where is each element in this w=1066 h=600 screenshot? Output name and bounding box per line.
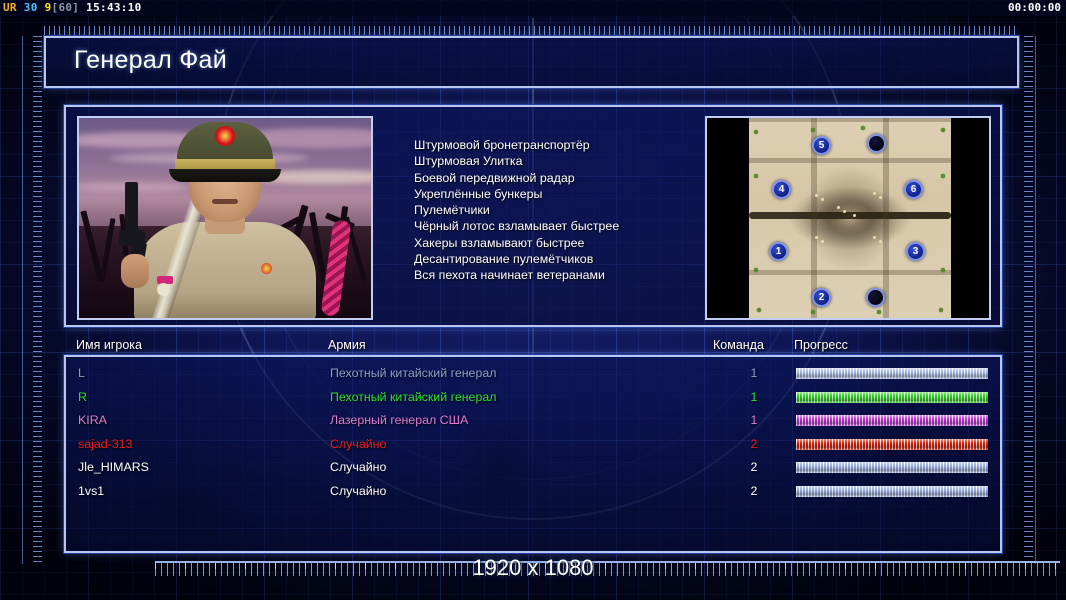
status-bar-left: UR 30 9[60] 15:43:10 (3, 0, 142, 16)
table-row[interactable]: 1vs1Случайно2 (66, 482, 1000, 506)
minimap-river (749, 212, 951, 219)
player-list-panel: LПехотный китайский генерал1RПехотный ки… (64, 355, 1002, 553)
resolution-label: 1920 x 1080 (0, 555, 1066, 581)
table-row[interactable]: LПехотный китайский генерал1 (66, 364, 1000, 388)
ruler-right (1024, 36, 1033, 564)
player-name: L (78, 366, 85, 380)
player-army: Случайно (330, 484, 386, 498)
player-army: Пехотный китайский генерал (330, 366, 496, 380)
player-progress-bar (796, 439, 988, 450)
table-row[interactable]: RПехотный китайский генерал1 (66, 388, 1000, 412)
ability-item: Укреплённые бункеры (414, 186, 704, 202)
match-timer: 00:00:00 (1008, 0, 1061, 16)
ability-item: Чёрный лотос взламывает быстрее (414, 218, 704, 234)
general-portrait (77, 116, 373, 320)
player-progress-bar (796, 462, 988, 473)
table-row[interactable]: KIRAЛазерный генерал США1 (66, 411, 1000, 435)
portrait-cap-badge (215, 126, 235, 146)
ruler-left (33, 36, 42, 564)
player-table-header: Имя игрока Армия Команда Прогресс (76, 338, 1006, 356)
player-progress-bar (796, 392, 988, 403)
ability-item: Штурмовая Улитка (414, 153, 704, 169)
minimap-spawn-marker[interactable]: 4 (772, 180, 791, 199)
page-title: Генерал Фай (74, 46, 227, 75)
player-team: 1 (746, 390, 762, 404)
table-row[interactable]: Jle_HIMARSСлучайно2 (66, 458, 1000, 482)
player-name: sajad-313 (78, 437, 132, 451)
minimap-spawn-marker[interactable]: 3 (906, 242, 925, 261)
player-army: Случайно (330, 460, 386, 474)
clock-value: 15:43:10 (86, 1, 141, 14)
minimap-spawn-marker[interactable] (866, 288, 885, 307)
progress-gloss (796, 486, 988, 497)
player-name: R (78, 390, 87, 404)
ability-item: Штурмовой бронетранспортёр (414, 137, 704, 153)
general-abilities-list: Штурмовой бронетранспортёр Штурмовая Ули… (414, 137, 704, 284)
minimap-spawn-marker[interactable]: 1 (769, 242, 788, 261)
player-name: KIRA (78, 413, 107, 427)
player-team: 2 (746, 484, 762, 498)
ping-max-value: [60] (52, 1, 80, 14)
player-team: 1 (746, 366, 762, 380)
minimap[interactable]: 546132 (705, 116, 991, 320)
player-army: Лазерный генерал США (330, 413, 468, 427)
header-progress: Прогресс (794, 338, 848, 352)
player-progress-bar (796, 368, 988, 379)
title-panel: Генерал Фай (44, 36, 1019, 88)
ability-item: Десантирование пулемётчиков (414, 251, 704, 267)
header-team: Команда (713, 338, 764, 352)
ping-value: 9 (45, 1, 52, 14)
ability-item: Хакеры взламывают быстрее (414, 235, 704, 251)
ability-item: Пулемётчики (414, 202, 704, 218)
player-name: Jle_HIMARS (78, 460, 149, 474)
frame-line-left (22, 36, 23, 564)
ruler-top (44, 26, 1019, 35)
minimap-spawn-marker[interactable] (867, 134, 886, 153)
header-player-name: Имя игрока (76, 338, 142, 352)
progress-gloss (796, 439, 988, 450)
progress-gloss (796, 368, 988, 379)
minimap-spawn-marker[interactable]: 2 (812, 288, 831, 307)
ability-item: Вся пехота начинает ветеранами (414, 267, 704, 283)
status-bar: UR 30 9[60] 15:43:10 00:00:00 (0, 0, 1066, 16)
frame-line-right (1035, 36, 1036, 564)
header-army: Армия (328, 338, 366, 352)
ability-item: Боевой передвижной радар (414, 170, 704, 186)
player-team: 2 (746, 437, 762, 451)
player-progress-bar (796, 486, 988, 497)
progress-gloss (796, 392, 988, 403)
player-progress-bar (796, 415, 988, 426)
minimap-terrain: 546132 (749, 118, 951, 318)
player-army: Случайно (330, 437, 386, 451)
fps-value: 30 (24, 1, 38, 14)
player-team: 2 (746, 460, 762, 474)
progress-gloss (796, 462, 988, 473)
ur-label: UR (3, 1, 17, 14)
player-name: 1vs1 (78, 484, 104, 498)
player-army: Пехотный китайский генерал (330, 390, 496, 404)
player-team: 1 (746, 413, 762, 427)
minimap-spawn-marker[interactable]: 6 (904, 180, 923, 199)
table-row[interactable]: sajad-313Случайно2 (66, 435, 1000, 459)
progress-gloss (796, 415, 988, 426)
minimap-spawn-marker[interactable]: 5 (812, 136, 831, 155)
general-info-panel: Штурмовой бронетранспортёр Штурмовая Ули… (64, 105, 1002, 327)
game-lobby-screen: UR 30 9[60] 15:43:10 00:00:00 Генерал Фа… (0, 0, 1066, 600)
